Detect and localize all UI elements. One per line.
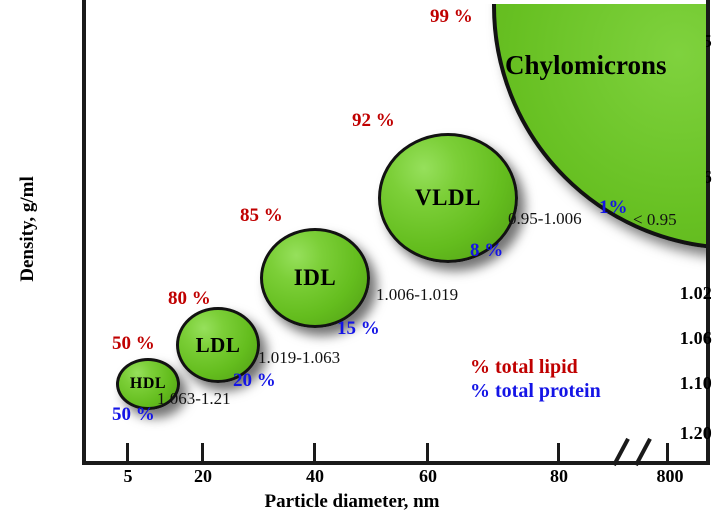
ldl-density-range: 1.019-1.063: [258, 348, 340, 368]
idl-label: IDL: [294, 265, 336, 291]
x-tick-label-1: 20: [194, 466, 212, 487]
idl-protein-pct: 15 %: [337, 318, 380, 340]
x-tick-label-0: 5: [124, 466, 133, 487]
y-axis-title: Density, g/ml: [17, 149, 39, 309]
x-tick-label-4: 80: [550, 466, 568, 487]
hdl-protein-pct: 50 %: [112, 404, 155, 426]
idl-particle[interactable]: IDL: [260, 228, 370, 328]
vldl-density-range: 0.95-1.006: [508, 209, 582, 229]
chart-canvas: 0.95 1.006 1.02 1.06 1.10 1.20 Density, …: [0, 0, 712, 523]
ldl-protein-pct: 20 %: [233, 370, 276, 392]
idl-lipid-pct: 85 %: [240, 205, 283, 227]
x-tick-label-2: 40: [306, 466, 324, 487]
chylomicrons-density-range: < 0.95: [633, 210, 677, 230]
x-axis-title: Particle diameter, nm: [82, 491, 622, 513]
legend: % total lipid % total protein: [470, 355, 601, 404]
vldl-protein-pct: 8 %: [470, 240, 503, 262]
chylomicrons-lipid-pct: 99 %: [430, 6, 473, 28]
x-tick-label-5: 800: [657, 466, 684, 487]
ldl-label: LDL: [196, 333, 241, 358]
hdl-density-range: 1.063-1.21: [157, 389, 231, 409]
legend-entry-total-lipid: % total lipid: [470, 355, 601, 379]
idl-density-range: 1.006-1.019: [376, 285, 458, 305]
chylomicrons-protein-pct: 1%: [599, 197, 628, 219]
hdl-lipid-pct: 50 %: [112, 333, 155, 355]
plot-frame-right: [706, 0, 710, 465]
x-tick-label-3: 60: [419, 466, 437, 487]
chylomicrons-label: Chylomicrons: [505, 50, 667, 81]
vldl-lipid-pct: 92 %: [352, 110, 395, 132]
vldl-label: VLDL: [415, 185, 481, 211]
legend-entry-total-protein: % total protein: [470, 379, 601, 403]
ldl-lipid-pct: 80 %: [168, 288, 211, 310]
